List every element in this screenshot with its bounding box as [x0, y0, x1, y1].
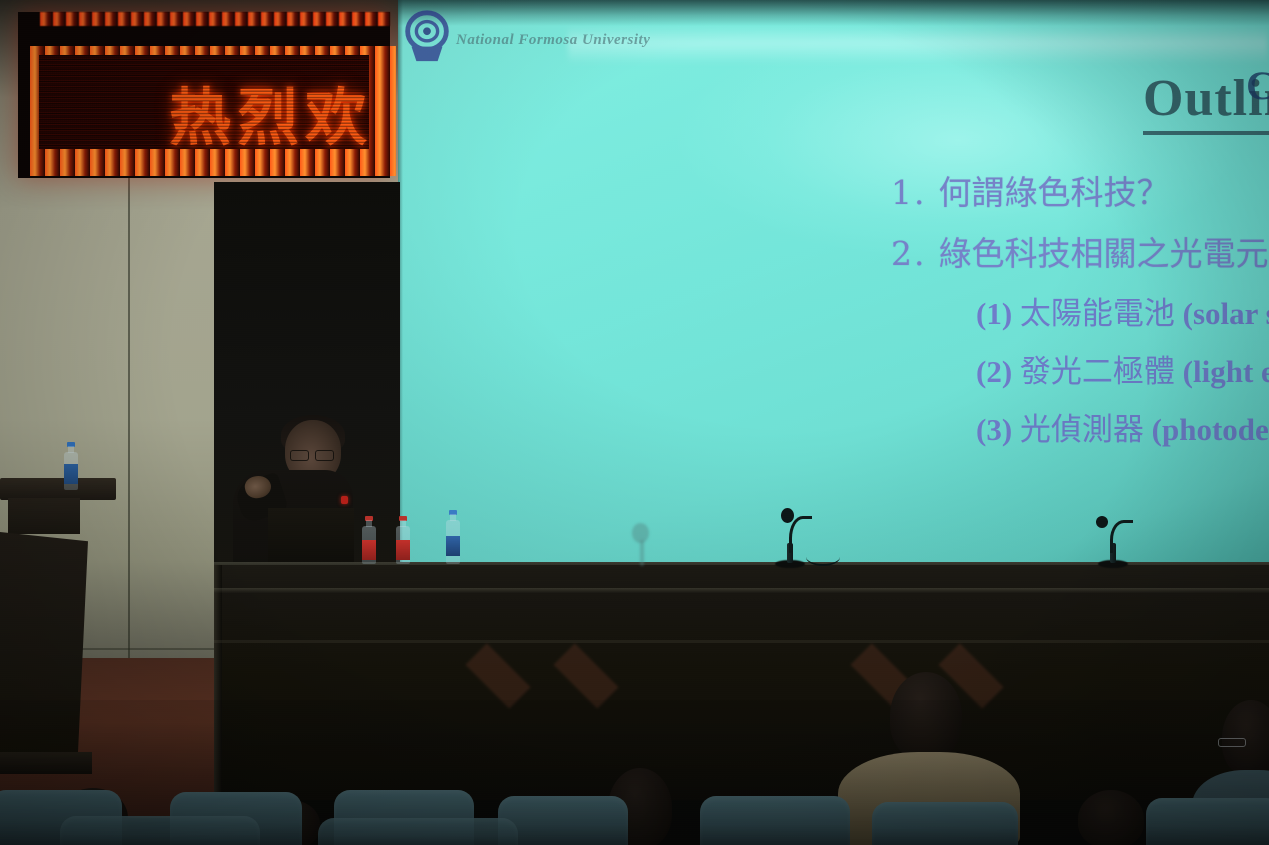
glasses-left-lens: [290, 450, 309, 461]
led-sign-text: 热烈欢: [169, 67, 369, 149]
microphone-gooseneck: [1110, 520, 1133, 553]
lectern-top: [0, 478, 116, 500]
presenter-laptop: [268, 508, 354, 566]
projection-screen: Outline 1.何謂綠色科技？ 2.綠色科技相關之光電元件發展與應用 (1)…: [398, 0, 1269, 578]
audience-glasses-icon: [1218, 738, 1246, 747]
audience-seat: [700, 796, 850, 845]
lecture-hall-photo: 热烈欢 Outline 1.何謂綠色科技？ 2.綠色科技相關之光電元件發展與應用…: [0, 0, 1269, 845]
stage-desk-lip: [214, 588, 1269, 593]
microphone-shadow-stem: [640, 540, 644, 566]
stage-desk-rail: [214, 640, 1269, 643]
stage-desk: [214, 565, 1269, 800]
bottle-label: [446, 536, 460, 556]
lectern-body: [0, 532, 88, 764]
presenter-lapel-badge: [341, 496, 348, 504]
slide-org-name: National Formosa University: [456, 32, 650, 49]
led-top-light-strip: [40, 12, 390, 26]
audience-seat: [1146, 798, 1269, 845]
gooseneck-microphone: [1098, 512, 1146, 568]
lectern-neck: [8, 498, 80, 534]
wall-seam: [128, 178, 130, 658]
university-crest-logo: [398, 8, 456, 66]
bottle-label: [362, 540, 376, 560]
led-marquee-sign: 热烈欢: [18, 12, 390, 178]
lectern-base: [0, 752, 92, 774]
bottle-label: [396, 540, 410, 560]
stage-desk-side-panel: [214, 565, 222, 800]
water-bottle: [64, 442, 77, 482]
bottle-label: [64, 464, 78, 484]
microphone-capsule: [1096, 516, 1108, 528]
audience-seat: [318, 818, 518, 845]
audience-seat: [60, 816, 260, 845]
audience-seat: [872, 802, 1018, 845]
glasses-right-lens: [315, 450, 334, 461]
led-display-panel: 热烈欢: [39, 55, 369, 149]
presenter-glasses-icon: [290, 450, 334, 459]
screen-vignette: [398, 0, 1269, 578]
audience-head: [1078, 790, 1144, 845]
microphone-cable: [806, 548, 840, 566]
audience-head: [890, 672, 962, 760]
microphone-capsule: [781, 508, 794, 523]
